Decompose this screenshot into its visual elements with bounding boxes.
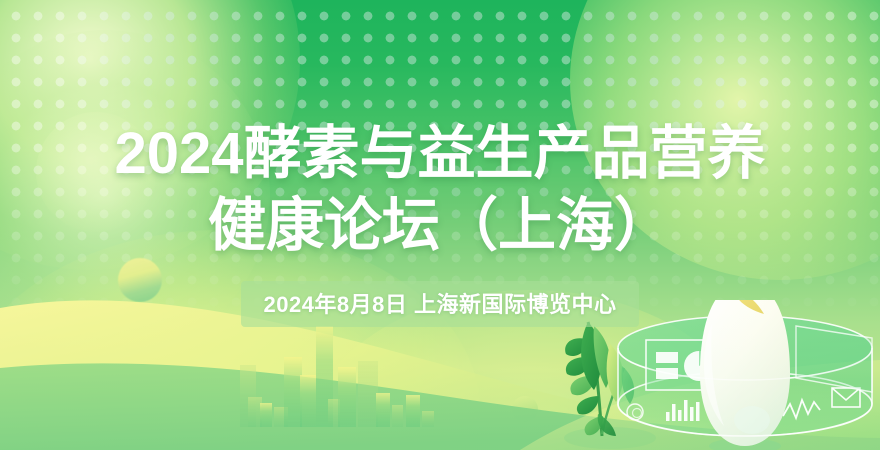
title-line-2: 健康论坛（上海） (0, 190, 880, 262)
line-chart-icon (783, 400, 820, 418)
dashboard-panel-icon (646, 340, 722, 390)
banner-subtitle: 2024年8月8日 上海新国际博览中心 (0, 281, 880, 327)
subtitle-bar: 2024年8月8日 上海新国际博览中心 (241, 281, 638, 327)
leaf-sprout-icon (548, 310, 668, 450)
bubble-small-green (512, 396, 538, 422)
glow-bottom-left (0, 230, 480, 450)
bar-chart-icon (666, 400, 700, 421)
banner-title: 2024酵素与益生产品营养 健康论坛（上海） (0, 118, 880, 262)
wave-curve (0, 250, 880, 450)
promotional-banner: 2024酵素与益生产品营养 健康论坛（上海） 2024年8月8日 上海新国际博览… (0, 0, 880, 450)
envelope-icon (832, 388, 860, 407)
circle-icon (627, 404, 643, 420)
title-line-1: 2024酵素与益生产品营养 (0, 118, 880, 190)
